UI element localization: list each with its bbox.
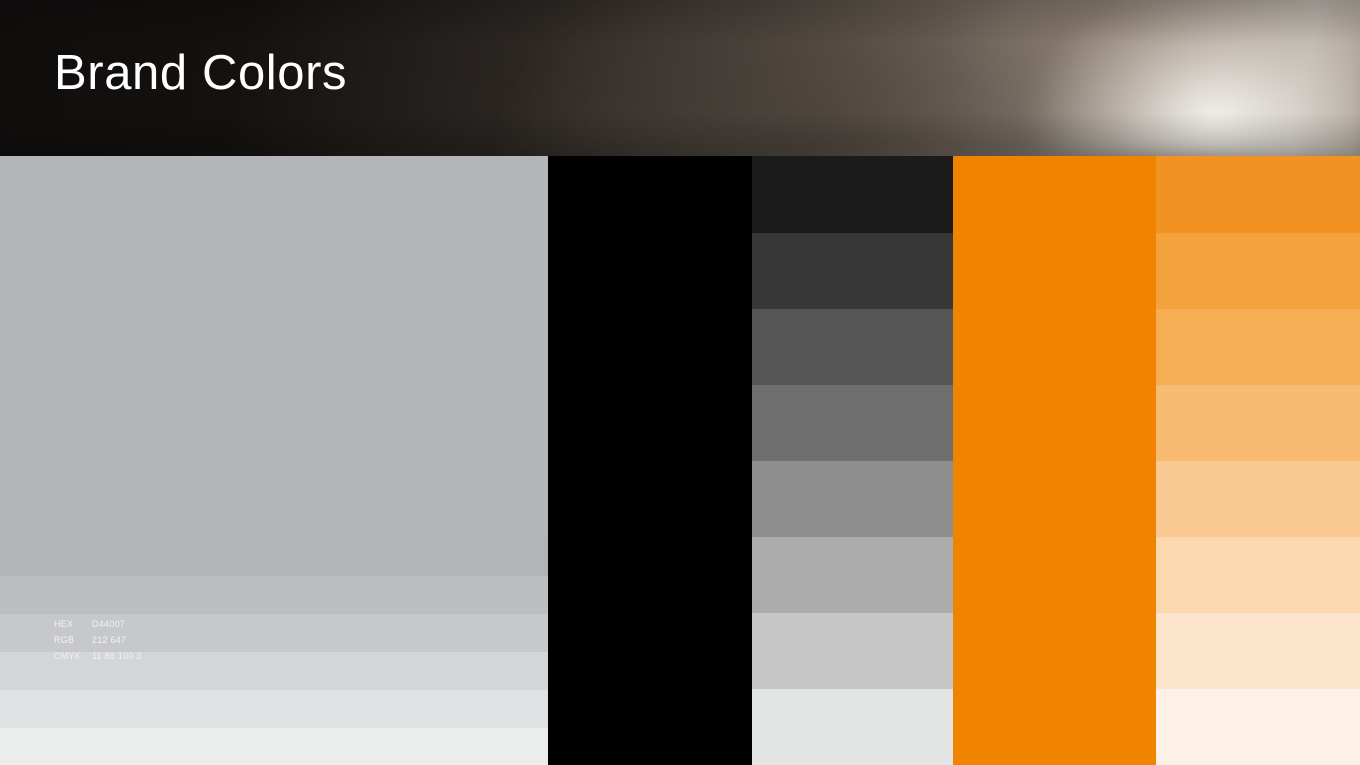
orange-tint-swatch-5[interactable] xyxy=(1156,461,1360,537)
orange-tint-column[interactable] xyxy=(1156,156,1360,765)
gray-ramp-swatch-6[interactable] xyxy=(752,537,953,613)
header-banner: Brand Colors xyxy=(0,0,1360,156)
orange-tint-swatch-6[interactable] xyxy=(1156,537,1360,613)
orange-tint-swatch-4[interactable] xyxy=(1156,385,1360,461)
orange-tint-swatch-3[interactable] xyxy=(1156,309,1360,385)
orange-tint-swatch-1[interactable] xyxy=(1156,156,1360,233)
value-cmyk: 11 88 100 3 xyxy=(92,649,142,665)
gray-ramp-swatch-4[interactable] xyxy=(752,385,953,461)
black-column[interactable] xyxy=(548,156,752,765)
neutral-swatch-7[interactable] xyxy=(0,728,548,765)
neutral-swatch-1[interactable] xyxy=(0,156,548,540)
gray-ramp-swatch-8[interactable] xyxy=(752,689,953,765)
neutral-gray-column[interactable] xyxy=(0,156,548,765)
value-hex: D44007 xyxy=(92,617,125,633)
gray-ramp-swatch-7[interactable] xyxy=(752,613,953,689)
label-hex: HEX xyxy=(54,617,92,633)
label-cmyk: CMYK xyxy=(54,649,92,665)
neutral-swatch-3[interactable] xyxy=(0,576,548,614)
color-palette: HEX D44007 RGB 212 647 CMYK 11 88 100 3 … xyxy=(0,156,1360,765)
gray-ramp-swatch-2[interactable] xyxy=(752,233,953,309)
value-rgb: 212 647 xyxy=(92,633,126,649)
orange-tint-swatch-7[interactable] xyxy=(1156,613,1360,689)
gray-ramp-swatch-5[interactable] xyxy=(752,461,953,537)
brand-colors-slide: Brand Colors HEX D44007 RGB 212 647 CMYK… xyxy=(0,0,1360,765)
orange-tint-swatch-2[interactable] xyxy=(1156,233,1360,309)
gray-ramp-swatch-3[interactable] xyxy=(752,309,953,385)
neutral-swatch-6[interactable] xyxy=(0,690,548,728)
gray-ramp-swatch-1[interactable] xyxy=(752,156,953,233)
label-rgb: RGB xyxy=(54,633,92,649)
orange-column[interactable] xyxy=(953,156,1156,765)
info-row-cmyk: CMYK 11 88 100 3 xyxy=(54,649,142,665)
orange-tint-swatch-8[interactable] xyxy=(1156,689,1360,765)
swatch-info-neutral: HEX D44007 RGB 212 647 CMYK 11 88 100 3 xyxy=(54,617,142,664)
info-row-hex: HEX D44007 xyxy=(54,617,142,633)
gray-ramp-column[interactable] xyxy=(752,156,953,765)
neutral-swatch-2[interactable] xyxy=(0,540,548,576)
page-title: Brand Colors xyxy=(54,48,347,99)
info-row-rgb: RGB 212 647 xyxy=(54,633,142,649)
